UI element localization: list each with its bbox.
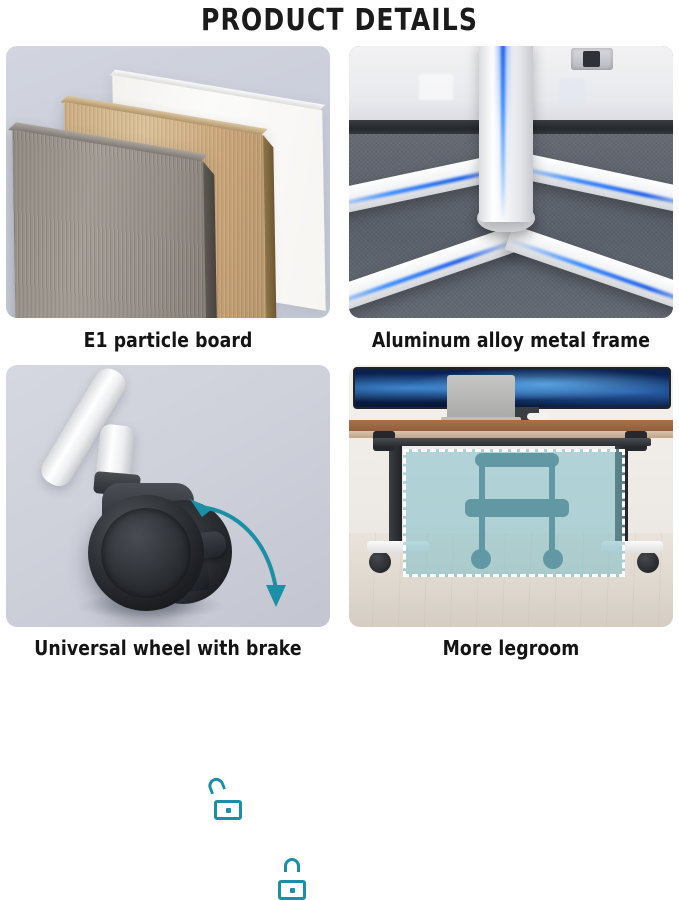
lock-body xyxy=(278,880,306,900)
laptop xyxy=(447,375,515,419)
universal-wheel-image xyxy=(6,365,330,627)
grey-board xyxy=(12,130,208,318)
caption-universal-wheel: Universal wheel with brake xyxy=(12,636,323,660)
desk-caster-right xyxy=(637,551,659,573)
toggle-arc-arrow-icon xyxy=(186,485,316,615)
column-blue-glow xyxy=(501,46,505,220)
product-details-page: PRODUCT DETAILS E1 part xyxy=(0,0,679,673)
desk-support-beam xyxy=(373,438,651,446)
detail-card-universal-wheel: Universal wheel with brake xyxy=(6,365,330,627)
detail-card-particle-board: E1 particle board xyxy=(6,46,330,318)
lock-icon xyxy=(278,870,306,900)
desk-caster-left xyxy=(369,551,391,573)
desk-leg-left xyxy=(389,441,402,546)
caption-more-legroom: More legroom xyxy=(355,636,666,660)
unlock-shackle xyxy=(206,776,226,795)
detail-card-more-legroom: More legroom xyxy=(349,365,673,627)
legroom-highlight-area xyxy=(403,449,625,577)
page-title: PRODUCT DETAILS xyxy=(24,0,655,40)
more-legroom-image xyxy=(349,365,673,627)
frame-vertical-column xyxy=(479,46,533,222)
mouse xyxy=(527,413,549,420)
frame-bracket xyxy=(571,48,613,70)
caption-metal-frame: Aluminum alloy metal frame xyxy=(355,328,666,352)
desk-fitting-left xyxy=(419,74,453,100)
grey-board-face xyxy=(12,130,208,318)
metal-frame-image xyxy=(349,46,673,318)
unlock-body xyxy=(214,800,242,820)
unlock-icon xyxy=(214,790,242,820)
detail-card-metal-frame: Aluminum alloy metal frame xyxy=(349,46,673,318)
caption-particle-board: E1 particle board xyxy=(12,328,323,352)
lock-shackle xyxy=(284,858,300,872)
particle-board-image xyxy=(6,46,330,318)
desk-fitting-right xyxy=(559,78,585,102)
details-grid: E1 particle board xyxy=(0,44,679,673)
